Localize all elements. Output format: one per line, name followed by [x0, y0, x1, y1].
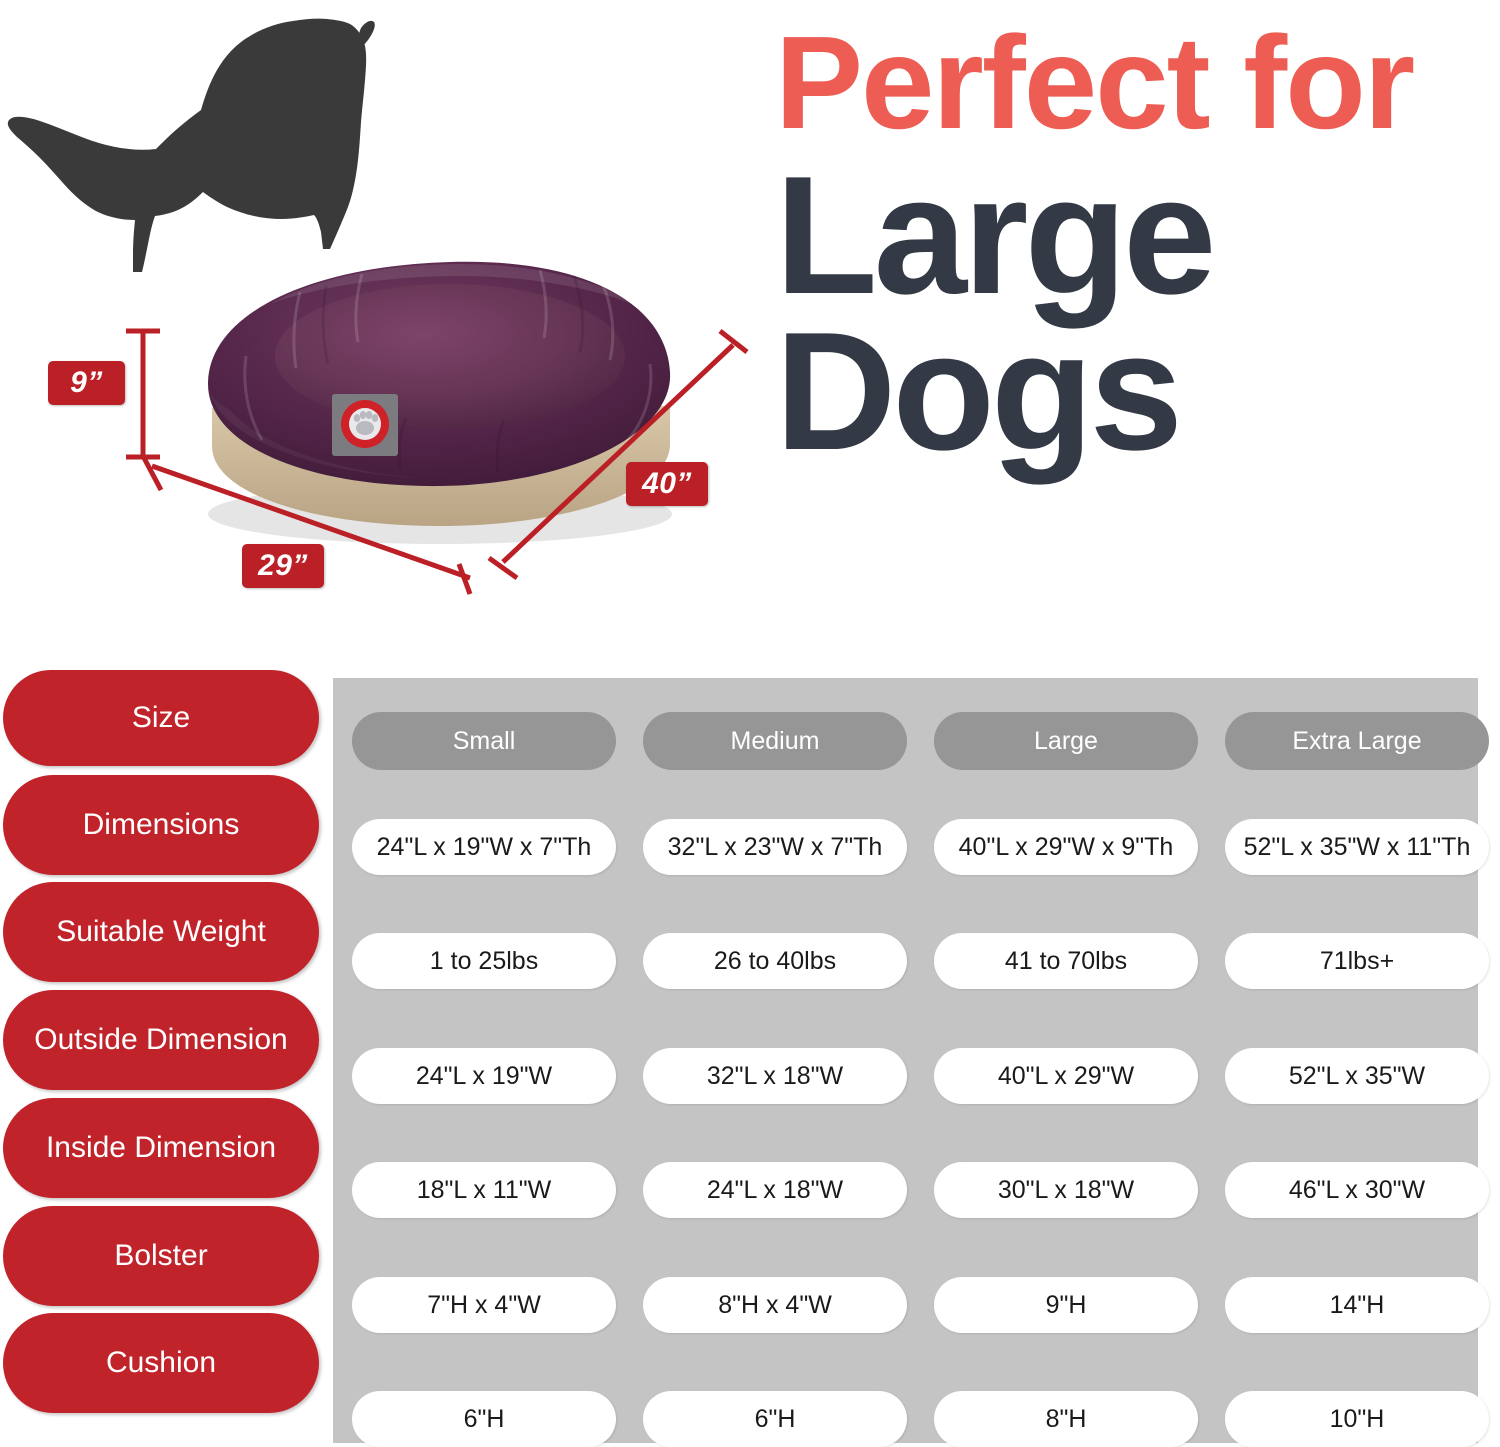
column-header-medium: Medium [643, 712, 907, 770]
table-cell: 24"L x 18"W [643, 1162, 907, 1218]
table-cell: 40"L x 29"W x 9"Th [934, 819, 1198, 875]
width-callout-badge: 29” [242, 544, 324, 588]
spec-comparison-table: SizeDimensionsSuitable WeightOutside Dim… [0, 660, 1500, 1443]
table-cell: 6"H [643, 1391, 907, 1447]
headline-line-3: Dogs [775, 313, 1485, 469]
headline-block: Perfect for Large Dogs [775, 22, 1485, 469]
table-cell: 8"H [934, 1391, 1198, 1447]
table-cell: 24"L x 19"W [352, 1048, 616, 1104]
table-cell: 71lbs+ [1225, 933, 1489, 989]
column-header-small: Small [352, 712, 616, 770]
column-header-large: Large [934, 712, 1198, 770]
table-cell: 18"L x 11"W [352, 1162, 616, 1218]
hero-section: 9” 29” 40” Perfect for Large Dogs [0, 0, 1500, 660]
table-value-grid: SmallMediumLargeExtra Large24"L x 19"W x… [352, 660, 1464, 1443]
table-cell: 8"H x 4"W [643, 1277, 907, 1333]
row-label-suitable-weight: Suitable Weight [3, 882, 319, 982]
dog-bed-image [150, 196, 710, 566]
row-label-inside-dimension: Inside Dimension [3, 1098, 319, 1198]
table-cell: 41 to 70lbs [934, 933, 1198, 989]
table-cell: 52"L x 35"W [1225, 1048, 1489, 1104]
row-label-outside-dimension: Outside Dimension [3, 990, 319, 1090]
table-cell: 10"H [1225, 1391, 1489, 1447]
row-label-size: Size [3, 670, 319, 766]
table-cell: 26 to 40lbs [643, 933, 907, 989]
row-label-dimensions: Dimensions [3, 775, 319, 875]
row-label-bolster: Bolster [3, 1206, 319, 1306]
row-label-cushion: Cushion [3, 1313, 319, 1413]
table-cell: 30"L x 18"W [934, 1162, 1198, 1218]
table-cell: 7"H x 4"W [352, 1277, 616, 1333]
table-cell: 14"H [1225, 1277, 1489, 1333]
table-cell: 32"L x 18"W [643, 1048, 907, 1104]
table-cell: 46"L x 30"W [1225, 1162, 1489, 1218]
column-header-extra-large: Extra Large [1225, 712, 1489, 770]
table-cell: 9"H [934, 1277, 1198, 1333]
brand-tag [332, 394, 398, 456]
table-cell: 52"L x 35"W x 11"Th [1225, 819, 1489, 875]
height-callout-badge: 9” [48, 361, 125, 405]
table-cell: 1 to 25lbs [352, 933, 616, 989]
table-cell: 32"L x 23"W x 7"Th [643, 819, 907, 875]
depth-callout-badge: 40” [626, 462, 708, 506]
table-cell: 40"L x 29"W [934, 1048, 1198, 1104]
headline-line-1: Perfect for [775, 22, 1485, 145]
table-cell: 24"L x 19"W x 7"Th [352, 819, 616, 875]
row-label-column: SizeDimensionsSuitable WeightOutside Dim… [3, 660, 319, 1443]
table-cell: 6"H [352, 1391, 616, 1447]
headline-line-2: Large [775, 157, 1485, 313]
